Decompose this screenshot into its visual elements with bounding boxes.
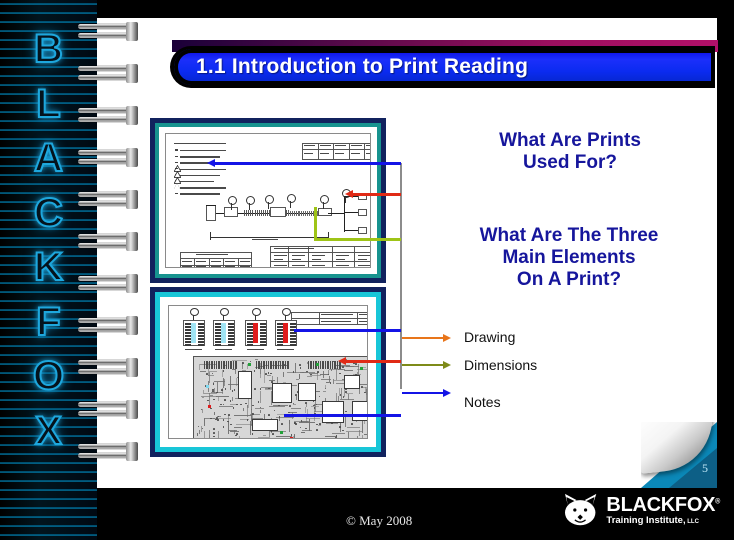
spine-letter: L (36, 85, 60, 123)
pcb-trace (219, 406, 233, 407)
drawing-line (247, 326, 253, 328)
pcb-pad (235, 435, 237, 437)
drawing-annotation (351, 145, 362, 146)
pcb-trace (234, 415, 252, 416)
drawing-line (250, 210, 251, 216)
blackfox-logo[interactable]: BLACKFOX® Training Institute, LLC (562, 490, 720, 530)
balloon-callout (190, 308, 199, 316)
drawing-annotation (359, 321, 368, 322)
drawing-line (357, 312, 358, 325)
pcb-pad (342, 366, 344, 368)
pcb-pad (213, 383, 215, 385)
drawing-line (247, 338, 253, 340)
drawing-line (290, 323, 296, 325)
drawing-line (301, 211, 302, 216)
logo-tagline: Training Institute, LLC (606, 516, 720, 526)
pcb-marker (360, 367, 363, 370)
drawing-line (198, 329, 204, 331)
pcb-header-pin (320, 361, 321, 369)
pcb-header-pin (268, 361, 269, 369)
drawing-annotation (215, 349, 232, 350)
drawing-annotation (252, 239, 278, 240)
pcb-trace (202, 397, 205, 398)
drawing-annotation (312, 259, 321, 260)
drawing-line (277, 335, 283, 337)
drawing-line (268, 202, 269, 209)
pcb-trace (247, 405, 248, 418)
pcb-header-pin (258, 361, 259, 369)
drawing-line (260, 338, 266, 340)
drawing-line (261, 210, 262, 216)
pcb-trace (316, 438, 317, 439)
drawing-annotation (225, 266, 235, 267)
callout-stub-dimensions-top (314, 207, 317, 240)
pcb-trace (234, 427, 242, 428)
drawing-line (277, 323, 283, 325)
drawing-line (175, 162, 178, 163)
pcb-pad (207, 400, 209, 402)
pcb-header-pin (256, 361, 257, 369)
pcb-header-pin (226, 361, 227, 369)
pcb-header-pin (282, 361, 283, 369)
pcb-pad (339, 426, 341, 428)
drawing-line (299, 211, 300, 216)
pcb-pad (319, 423, 321, 425)
pcb-header-pin (211, 361, 212, 369)
drawing-line (277, 341, 283, 343)
pcb-trace (267, 375, 271, 376)
drawing-annotation (247, 349, 264, 350)
pcb-pad (224, 414, 226, 416)
pcb-trace (214, 381, 225, 382)
spiral-ring (78, 64, 136, 84)
drawing-line (228, 332, 234, 334)
pcb-trace (296, 379, 299, 380)
pcb-trace (260, 368, 261, 378)
drawing-annotation (180, 169, 226, 170)
pcb-trace (307, 376, 312, 377)
drawing-line (247, 332, 253, 334)
pcb-pad (335, 437, 337, 439)
spiral-ring (78, 106, 136, 126)
drawing-line (344, 212, 358, 213)
spiral-ring (78, 316, 136, 336)
pcb-pad (305, 402, 307, 404)
drawing-line (247, 341, 253, 343)
drawing-annotation (180, 193, 220, 194)
pcb-pad (361, 386, 363, 388)
pcb-pad (268, 414, 270, 416)
drawing-line (296, 211, 297, 216)
pcb-header-pin (216, 361, 217, 369)
question-line: Main Elements (404, 247, 734, 269)
pcb-trace (255, 408, 264, 409)
pcb-pad (281, 423, 283, 425)
drawing-line (223, 258, 224, 268)
pcb-trace (255, 359, 258, 360)
drawing-annotation (174, 143, 226, 144)
pcb-trace (243, 408, 244, 411)
drawing-line (305, 211, 306, 216)
pcb-pad (300, 427, 302, 429)
pcb-trace (305, 407, 306, 413)
drawing-line (175, 149, 178, 150)
slide-canvas: B L A C K F O X 1.1 Introduction to Prin… (0, 0, 734, 540)
drawing-annotation (182, 266, 192, 267)
pcb-pad (242, 362, 244, 364)
drawing-line (244, 210, 245, 216)
pcb-trace (359, 430, 360, 436)
drawing-line (215, 341, 221, 343)
spiral-ring (78, 442, 136, 462)
pcb-pad (265, 373, 267, 375)
pcb-header-pin (218, 361, 219, 369)
drawing-line (210, 237, 328, 238)
pcb-component (298, 383, 316, 401)
drawing-line (185, 329, 191, 331)
pcb-header-pin (221, 361, 222, 369)
drawing-line (286, 210, 287, 216)
drawing-line (228, 344, 234, 346)
pcb-trace (197, 433, 198, 436)
pcb-trace (260, 391, 261, 403)
drawing-line (290, 332, 296, 334)
pcb-header-pin (273, 361, 274, 369)
drawing-line (290, 211, 291, 216)
drawing-annotation (274, 265, 287, 266)
pcb-pad (252, 405, 254, 407)
question-line: Used For? (418, 152, 722, 174)
drawing-annotation (304, 145, 315, 146)
drawing-line (302, 149, 371, 150)
drawing-annotation (196, 266, 206, 267)
drawing-annotation (211, 261, 221, 262)
drawing-annotation (185, 349, 202, 350)
logo-wordmark: BLACKFOX® Training Institute, LLC (606, 495, 720, 526)
pcb-trace (306, 404, 307, 407)
pcb-pad (295, 394, 297, 396)
pcb-pad (233, 407, 235, 409)
drawing-detail (358, 227, 367, 234)
pcb-pad (367, 374, 368, 376)
pcb-pad (268, 372, 270, 374)
logo-name: BLACKFOX® (606, 495, 720, 515)
balloon-callout (252, 308, 261, 316)
drawing-line (298, 211, 299, 216)
drawing-line (328, 213, 344, 214)
drawing-line (228, 341, 234, 343)
pcb-header-pin (223, 361, 224, 369)
spine-letter: F (36, 303, 60, 341)
balloon-callout (287, 194, 296, 203)
pcb-marker (248, 363, 251, 366)
drawing-line (319, 312, 320, 325)
pcb-trace (276, 436, 285, 437)
callout-rail-top (400, 163, 402, 389)
pcb-pad (254, 388, 256, 390)
pcb-marker (206, 385, 209, 388)
drawing-annotation (196, 254, 228, 255)
drawing-annotation (292, 265, 305, 266)
panel-inner-border (155, 123, 381, 278)
pcb-header-pin (214, 361, 215, 369)
drawing-annotation (180, 187, 226, 188)
pcb-trace (214, 388, 215, 393)
pcb-trace (299, 374, 300, 379)
pcb-pad (254, 370, 256, 372)
pcb-pad (218, 419, 220, 421)
pcb-header-pin (206, 361, 207, 369)
copyright-text: © May 2008 (346, 513, 412, 529)
pcb-pad (223, 370, 225, 372)
drawing-detail (318, 208, 332, 216)
drawing-detail (221, 323, 226, 343)
drawing-line (175, 156, 178, 157)
pcb-pad (234, 389, 236, 391)
pcb-trace (362, 420, 363, 433)
drawing-line (185, 341, 191, 343)
spiral-ring (78, 400, 136, 420)
drawing-line (323, 202, 324, 209)
drawing-line (215, 332, 221, 334)
pcb-header-pin (266, 361, 267, 369)
pcb-trace (346, 366, 359, 367)
pcb-pad (260, 388, 262, 390)
drawing-line (260, 341, 266, 343)
pcb-header-pin (275, 361, 276, 369)
balloon-callout (320, 195, 329, 204)
drawing-line (198, 344, 204, 346)
pcb-component (322, 401, 344, 423)
spine-letter: X (35, 412, 62, 450)
callout-line-titleblock-bottom (284, 414, 401, 417)
cable-assembly-panel[interactable] (150, 118, 386, 283)
pcb-header-pin (310, 361, 311, 369)
drawing-line (185, 323, 191, 325)
drawing-line (277, 326, 283, 328)
pcb-header-pin (278, 361, 279, 369)
pcb-header-pin (330, 361, 331, 369)
spine-letter: O (33, 357, 64, 395)
pcb-pad (351, 423, 353, 425)
drawing-line (198, 326, 204, 328)
pcb-trace (348, 394, 349, 400)
pcb-header-pin (327, 361, 328, 369)
pcb-pad (224, 399, 226, 401)
pcb-marker (280, 431, 283, 434)
pcb-trace (344, 370, 353, 371)
drawing-annotation (312, 265, 325, 266)
drawing-line (288, 211, 289, 216)
drawing-annotation (277, 349, 294, 350)
pcb-assembly-panel[interactable] (150, 287, 386, 457)
pcb-header-pin (313, 361, 314, 369)
drawing-line (198, 332, 204, 334)
pcb-trace (209, 371, 217, 372)
drawing-detail (358, 209, 367, 216)
fox-head-icon (562, 493, 602, 527)
pcb-header-pin (263, 361, 264, 369)
drawing-line (259, 210, 260, 216)
pcb-marker (208, 405, 211, 408)
pcb-trace (367, 430, 368, 433)
pcb-trace (227, 438, 232, 439)
drawing-line (344, 230, 358, 231)
spiral-ring (78, 232, 136, 252)
drawing-line (206, 205, 216, 206)
pcb-header-pin (334, 361, 335, 369)
drawing-annotation (370, 211, 371, 212)
drawing-line (198, 323, 204, 325)
pcb-header-pin (325, 361, 326, 369)
pcb-trace (291, 408, 302, 409)
pcb-trace (202, 409, 203, 413)
pcb-trace (332, 433, 345, 434)
pcb-pad (213, 399, 215, 401)
pcb-pad (294, 422, 296, 424)
spine-letter: C (34, 194, 63, 232)
title-banner: 1.1 Introduction to Print Reading (170, 40, 718, 88)
drawing-line (290, 201, 291, 208)
pcb-header-pin (322, 361, 323, 369)
drawing-line (215, 323, 221, 325)
pcb-pad (328, 374, 330, 376)
drawing-detail (283, 323, 288, 343)
pcb-trace (296, 396, 297, 400)
pcb-pad (270, 373, 272, 375)
drawing-line (247, 323, 253, 325)
pcb-pad (339, 373, 341, 375)
drawing-sheet (168, 305, 368, 439)
drawing-line (247, 344, 253, 346)
pcb-pad (289, 405, 291, 407)
arrow-to-notes (402, 392, 444, 394)
pcb-header-pin (230, 361, 231, 369)
drawing-line (185, 338, 191, 340)
drawing-line (260, 329, 266, 331)
drawing-line (263, 210, 264, 216)
pcb-trace (209, 372, 210, 383)
pcb-header-pin (235, 361, 236, 369)
drawing-detail (193, 356, 368, 439)
pcb-trace (232, 397, 233, 400)
pcb-trace (209, 435, 210, 439)
pcb-header-pin (270, 361, 271, 369)
drawing-annotation (180, 181, 214, 182)
pcb-pad (258, 401, 260, 403)
drawing-annotation (336, 255, 349, 256)
pcb-header-pin (285, 361, 286, 369)
drawing-line (210, 232, 211, 240)
arrow-to-drawing (402, 337, 444, 339)
callout-line-drawing-top (352, 193, 401, 196)
pcb-pad (223, 419, 225, 421)
drawing-line (277, 332, 283, 334)
pcb-pad (272, 433, 274, 435)
pcb-component (344, 375, 360, 389)
pcb-pad (228, 414, 230, 416)
pcb-pad (247, 419, 249, 421)
drawing-line (247, 329, 253, 331)
pcb-pad (240, 404, 242, 406)
drawing-annotation (358, 265, 371, 266)
drawing-line (185, 332, 191, 334)
pcb-pad (252, 433, 254, 435)
pcb-pad (342, 430, 344, 432)
drawing-line (332, 246, 333, 268)
spine-letter: B (34, 30, 63, 68)
pcb-pad (236, 433, 238, 435)
banner-body: 1.1 Introduction to Print Reading (170, 46, 715, 88)
pcb-trace (218, 431, 219, 439)
question-three-main-elements: What Are The Three Main Elements On A Pr… (404, 225, 734, 291)
spine-letter: A (34, 139, 63, 177)
pcb-pad (206, 373, 208, 375)
drawing-line (228, 323, 234, 325)
drawing-annotation (182, 261, 192, 262)
page-curl (641, 422, 717, 488)
drawing-line (228, 338, 234, 340)
pcb-trace (224, 379, 225, 386)
drawing-line (260, 332, 266, 334)
drawing-line (294, 211, 295, 216)
drawing-annotation (180, 156, 220, 157)
drawing-annotation (366, 145, 371, 146)
pcb-trace (269, 406, 285, 407)
pcb-pad (345, 391, 347, 393)
drawing-line (247, 335, 253, 337)
drawing-annotation (359, 314, 368, 315)
pcb-trace (306, 418, 319, 419)
list-item-drawing: Drawing (464, 329, 515, 345)
pcb-component (252, 419, 278, 431)
drawing-line (290, 344, 296, 346)
drawing-annotation (240, 261, 250, 262)
pcb-trace (336, 368, 337, 379)
pcb-pad (345, 411, 347, 413)
callout-line-drawing-bottom (345, 360, 401, 363)
drawing-line (228, 329, 234, 331)
pcb-trace (301, 432, 305, 433)
drawing-line (333, 143, 334, 160)
balloon-callout (246, 196, 255, 205)
pcb-pad (216, 392, 218, 394)
drawing-annotation (321, 314, 353, 315)
pcb-pad (198, 426, 200, 428)
drawing-line (238, 258, 239, 268)
drawing-annotation (351, 153, 360, 154)
drawing-annotation (358, 255, 371, 256)
drawing-annotation (274, 259, 283, 260)
drawing-annotation (292, 255, 305, 256)
drawing-line (364, 143, 365, 160)
pcb-pad (301, 420, 303, 422)
drawing-line (318, 143, 319, 160)
drawing-line (185, 326, 191, 328)
pcb-trace (230, 431, 239, 432)
pcb-trace (200, 371, 206, 372)
drawing-line (290, 341, 296, 343)
balloon-callout (228, 196, 237, 205)
drawing-annotation (180, 150, 226, 151)
pcb-trace (347, 427, 360, 428)
pcb-header-pin (228, 361, 229, 369)
drawing-line (290, 335, 296, 337)
pcb-trace (203, 390, 204, 394)
drawing-detail (206, 205, 216, 221)
drawing-annotation (196, 261, 206, 262)
drawing-annotation (370, 229, 371, 230)
